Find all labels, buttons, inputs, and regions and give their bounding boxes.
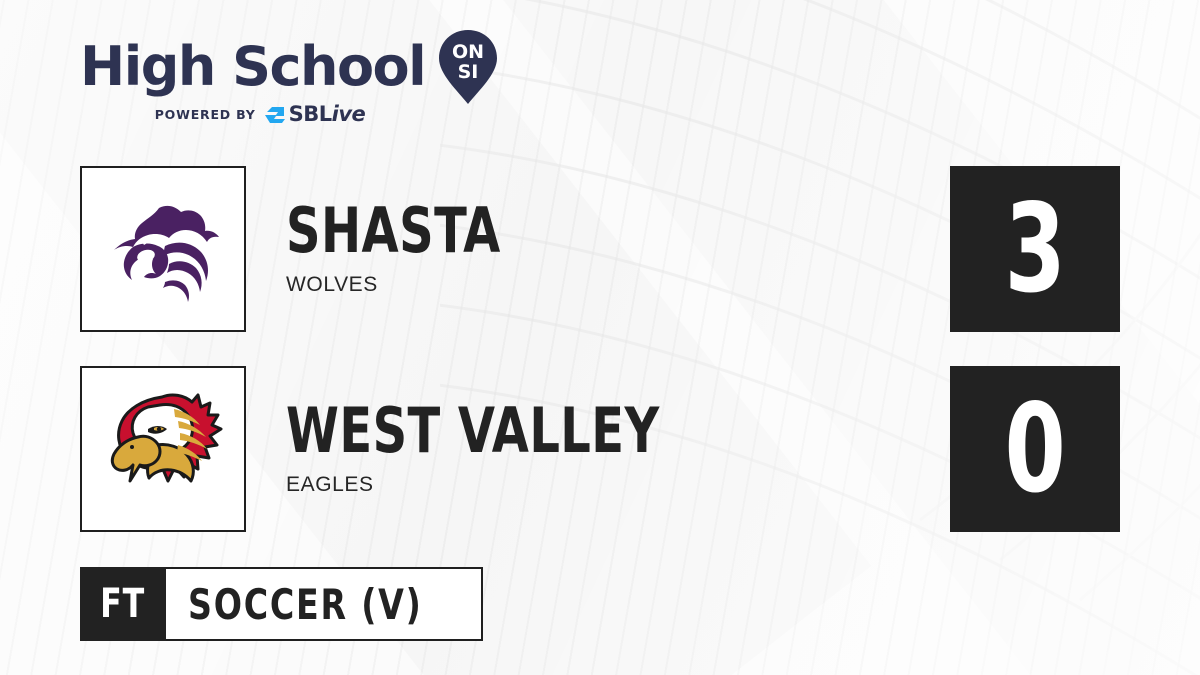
scoreboard-graphic: High School ON SI POWERED BY SBLive bbox=[0, 0, 1200, 675]
team-name: WEST VALLEY bbox=[286, 401, 660, 462]
sblive-wordmark: SBLive bbox=[289, 104, 366, 125]
team-logo-tile[interactable] bbox=[80, 166, 246, 332]
sblive-main: SBL bbox=[289, 102, 332, 126]
on-si-pin-icon: ON SI bbox=[437, 28, 499, 106]
pin-bottom-label: SI bbox=[458, 61, 479, 83]
wolf-head-logo bbox=[103, 194, 223, 304]
sblive-italic: ive bbox=[332, 102, 366, 126]
pin-top-label: ON bbox=[452, 41, 484, 63]
brand-wordmark: High School bbox=[80, 40, 425, 94]
team-row[interactable]: SHASTA WOLVES 3 bbox=[80, 166, 1120, 334]
team-mascot: EAGLES bbox=[286, 473, 721, 497]
team-score: 3 bbox=[1004, 188, 1065, 310]
team-score-box: 3 bbox=[950, 166, 1120, 332]
status-code: FT bbox=[100, 581, 145, 627]
team-text-block: WEST VALLEY EAGLES bbox=[286, 366, 721, 532]
brand-wordmark-row: High School ON SI bbox=[80, 36, 510, 98]
team-mascot: WOLVES bbox=[286, 273, 536, 297]
status-code-block: FT bbox=[80, 567, 166, 641]
status-label: SOCCER (V) bbox=[188, 580, 423, 629]
team-text-block: SHASTA WOLVES bbox=[286, 166, 536, 332]
team-name: SHASTA bbox=[286, 201, 501, 262]
eagle-head-logo bbox=[102, 389, 224, 509]
powered-by-row: POWERED BY SBLive bbox=[80, 104, 440, 125]
sblive-logo: SBLive bbox=[264, 104, 366, 125]
team-score-box: 0 bbox=[950, 366, 1120, 532]
team-logo-tile[interactable] bbox=[80, 366, 246, 532]
sblive-s-icon bbox=[264, 105, 286, 125]
team-row[interactable]: WEST VALLEY EAGLES 0 bbox=[80, 366, 1120, 534]
status-label-block: SOCCER (V) bbox=[166, 569, 481, 639]
team-score: 0 bbox=[1004, 388, 1065, 510]
powered-by-label: POWERED BY bbox=[155, 107, 256, 122]
brand-logo-lockup[interactable]: High School ON SI POWERED BY SBLive bbox=[80, 36, 510, 132]
game-status-bar: FT SOCCER (V) bbox=[80, 567, 483, 641]
